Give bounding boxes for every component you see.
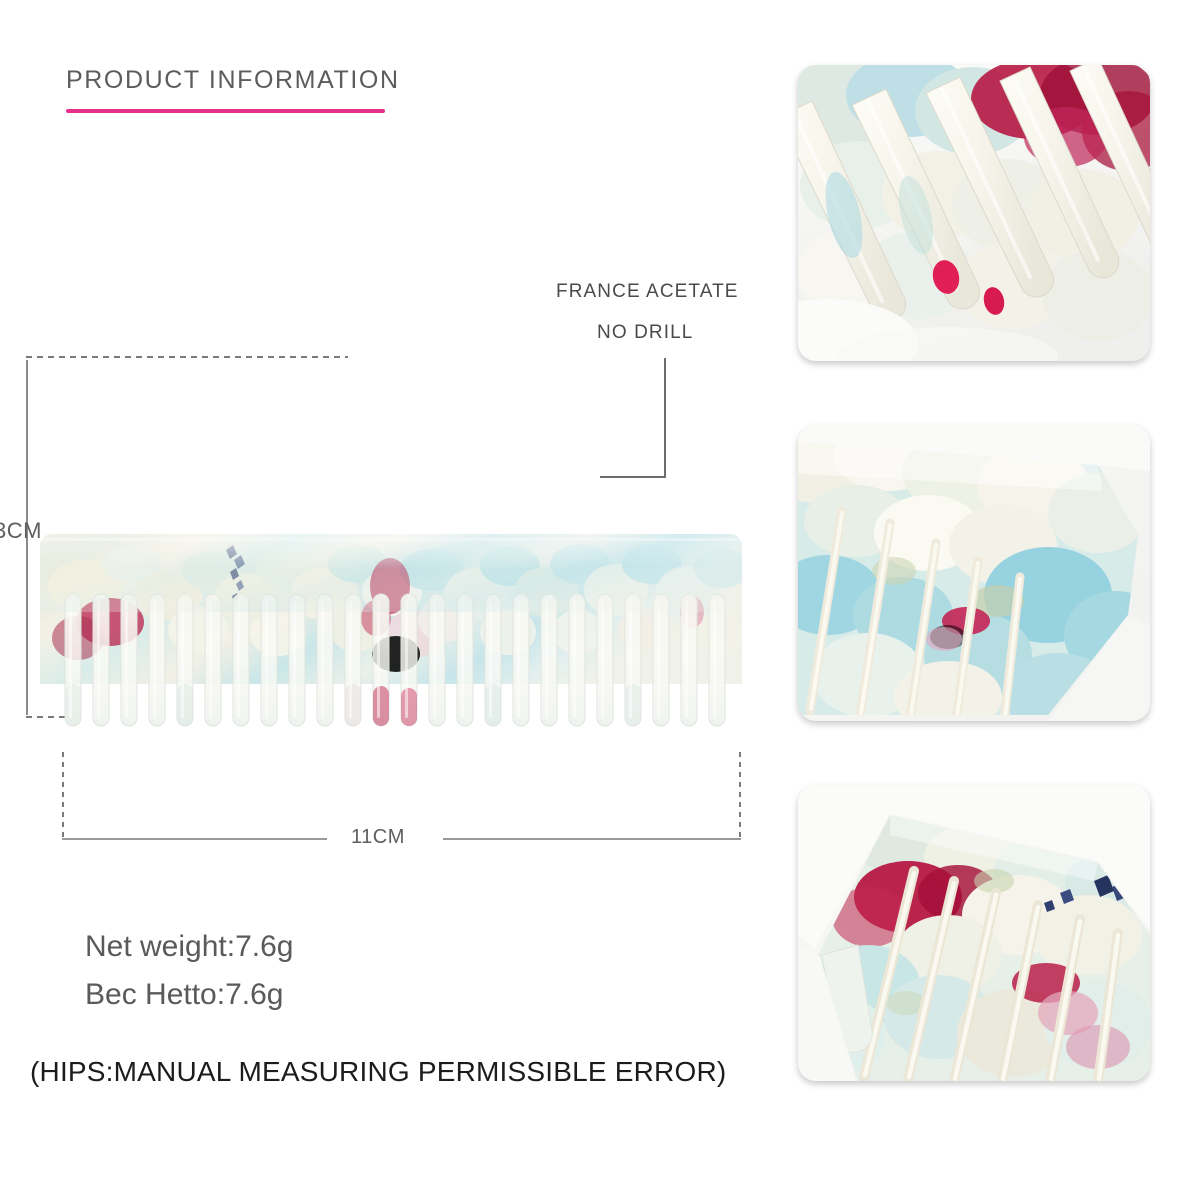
measurement-disclaimer: (HIPS:MANUAL MEASURING PERMISSIBLE ERROR… (30, 1056, 726, 1088)
callout-no-drill: NO DRILL (597, 322, 693, 344)
dimension-height-label: 3CM (0, 518, 42, 544)
dimension-width-label: 11CM (351, 826, 405, 849)
main-product-photo (40, 534, 742, 728)
callout-france-acetate: FRANCE ACETATE (556, 281, 739, 303)
detail-photo-teeth-closeup (798, 65, 1150, 361)
dimension-width-tick-left (62, 752, 64, 840)
product-information-page: PRODUCT INFORMATION FRANCE ACETATE NO DR… (0, 0, 1200, 1200)
detail-photo-teeth-angle (798, 785, 1150, 1081)
callout-leader-vertical (664, 358, 666, 478)
page-title: PRODUCT INFORMATION (66, 66, 400, 95)
dimension-width-line-right (443, 838, 741, 840)
callout-leader-horizontal (600, 476, 666, 478)
dimension-height-tick-top (26, 356, 348, 358)
spec-bec-hetto: Bec Hetto:7.6g (85, 978, 283, 1012)
title-underline-rule (66, 109, 385, 113)
detail-photo-corner-angle (798, 425, 1150, 721)
spec-net-weight: Net weight:7.6g (85, 930, 293, 964)
dimension-width-tick-right (739, 752, 741, 840)
dimension-width-line-left (62, 838, 327, 840)
